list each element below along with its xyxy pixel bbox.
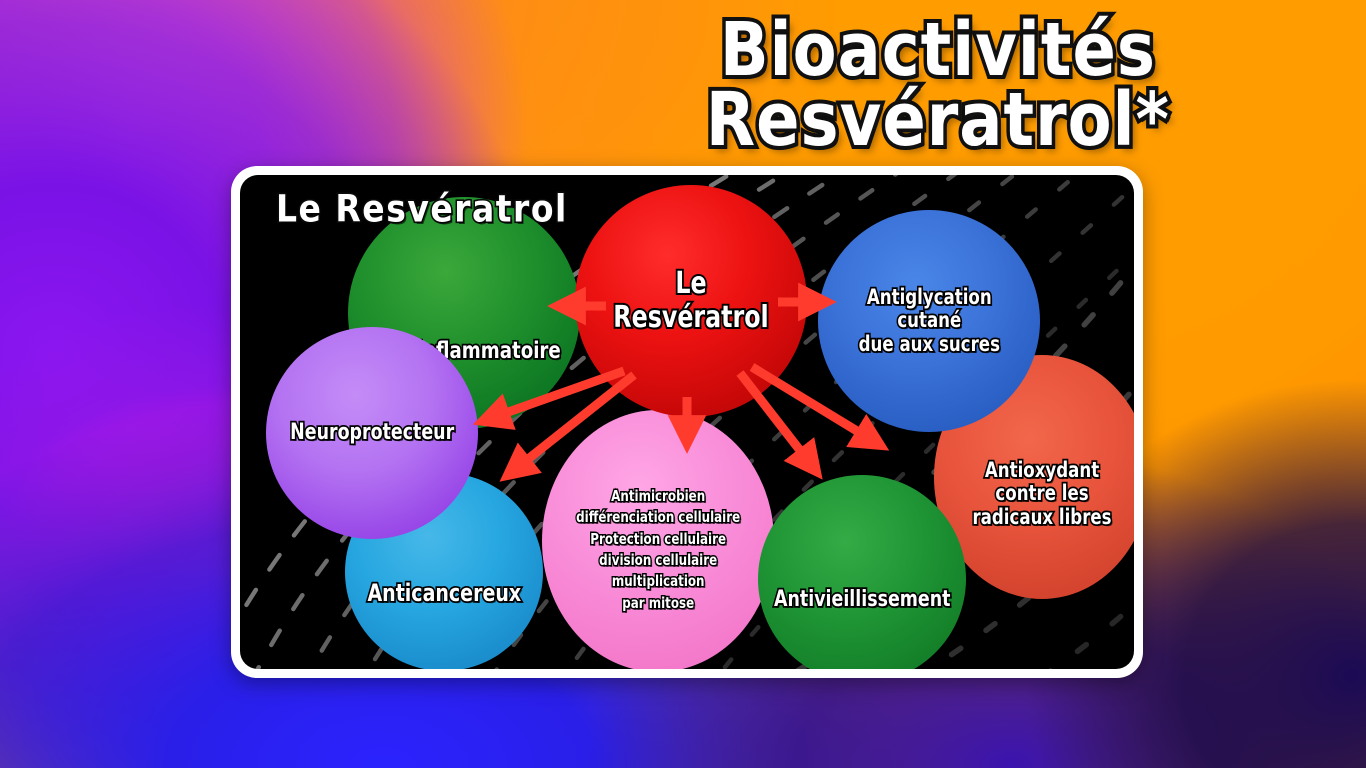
- node-label: Antivieillissement: [769, 588, 956, 613]
- node-center-resveratrol[interactable]: Le Resvératrol: [575, 185, 807, 417]
- node-label: Antioxydant contre les radicaux libres: [967, 459, 1117, 530]
- node-antivieillissement[interactable]: Antivieillissement: [758, 475, 966, 669]
- diagram-card-inner: Le Resvératrol Anti-inflammatoire Antigl…: [240, 175, 1134, 669]
- node-neuroprotecteur[interactable]: Neuroprotecteur: [266, 327, 478, 539]
- card-heading: Le Resvératrol: [276, 187, 568, 231]
- node-label: Neuroprotecteur: [285, 421, 460, 446]
- node-label: Antimicrobien différenciation cellulaire…: [571, 486, 746, 614]
- node-label: Antiglycation cutané due aux sucres: [853, 286, 1005, 357]
- node-label: Le Resvératrol: [589, 267, 793, 334]
- node-cellulaire[interactable]: Antimicrobien différenciation cellulaire…: [542, 410, 774, 669]
- poster-canvas: Bioactivités Resvératrol*: [0, 0, 1366, 768]
- node-label: Anticancereux: [362, 580, 526, 607]
- diagram-card: Le Resvératrol Anti-inflammatoire Antigl…: [231, 166, 1143, 678]
- node-antiglycation[interactable]: Antiglycation cutané due aux sucres: [818, 210, 1040, 432]
